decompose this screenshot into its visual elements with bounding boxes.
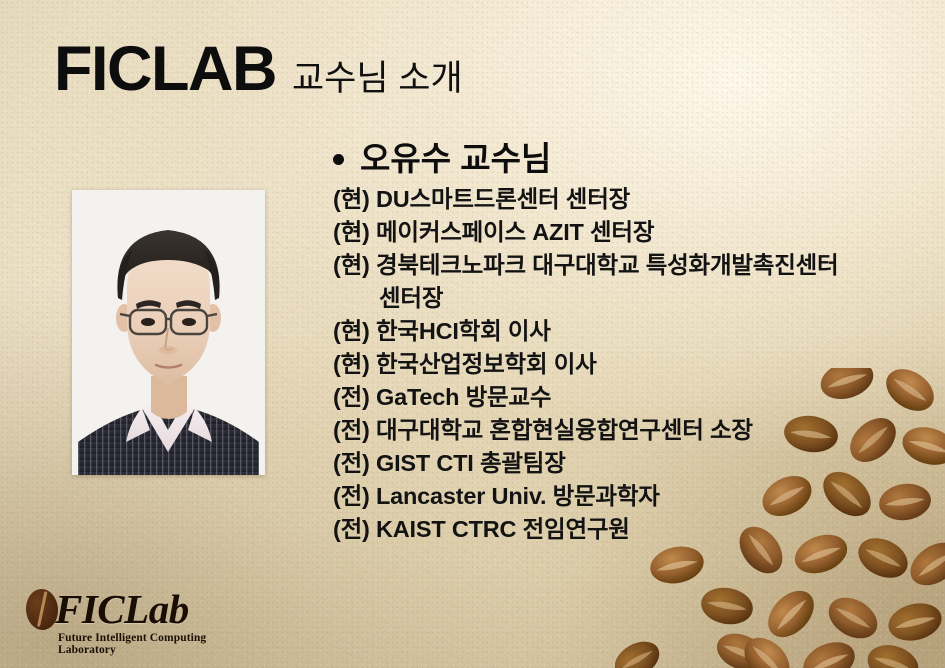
title-brand: FICLAB [54, 38, 276, 101]
title-subtitle: 교수님 소개 [292, 61, 463, 96]
position-item: (현) 메이커스페이스 AZIT 센터장 [333, 216, 838, 249]
position-item: (전) Lancaster Univ. 방문과학자 [333, 480, 838, 513]
slide-title: FICLAB 교수님 소개 [54, 38, 463, 101]
position-item: (현) 경북테크노파크 대구대학교 특성화개발촉진센터 [333, 249, 838, 282]
position-item: (전) GaTech 방문교수 [333, 381, 838, 414]
position-item: (현) 한국HCI학회 이사 [333, 315, 838, 348]
bullet-point-icon [333, 154, 344, 165]
logo-wordmark: FICLab [55, 589, 189, 630]
position-item: (현) 한국산업정보학회 이사 [333, 348, 838, 381]
professor-name-row: 오유수 교수님 [333, 140, 838, 179]
positions-list: (현) DU스마트드론센터 센터장(현) 메이커스페이스 AZIT 센터장(현)… [333, 183, 838, 546]
ficlab-logo: FICLab Future Intelligent Computing Labo… [26, 587, 236, 656]
position-item: (전) KAIST CTRC 전임연구원 [333, 513, 838, 546]
position-item: (현) DU스마트드론센터 센터장 [333, 183, 838, 216]
position-item: 센터장 [333, 282, 838, 315]
presentation-slide: FICLAB 교수님 소개 [0, 0, 945, 668]
logo-tagline: Future Intelligent Computing Laboratory [58, 632, 236, 656]
professor-name: 오유수 교수님 [360, 140, 551, 179]
position-item: (전) 대구대학교 혼합현실융합연구센터 소장 [333, 414, 838, 447]
position-item: (전) GIST CTI 총괄팀장 [333, 447, 838, 480]
professor-portrait-photo [72, 190, 265, 475]
profile-content: 오유수 교수님 (현) DU스마트드론센터 센터장(현) 메이커스페이스 AZI… [333, 140, 838, 546]
logo-row: FICLab [26, 587, 236, 631]
